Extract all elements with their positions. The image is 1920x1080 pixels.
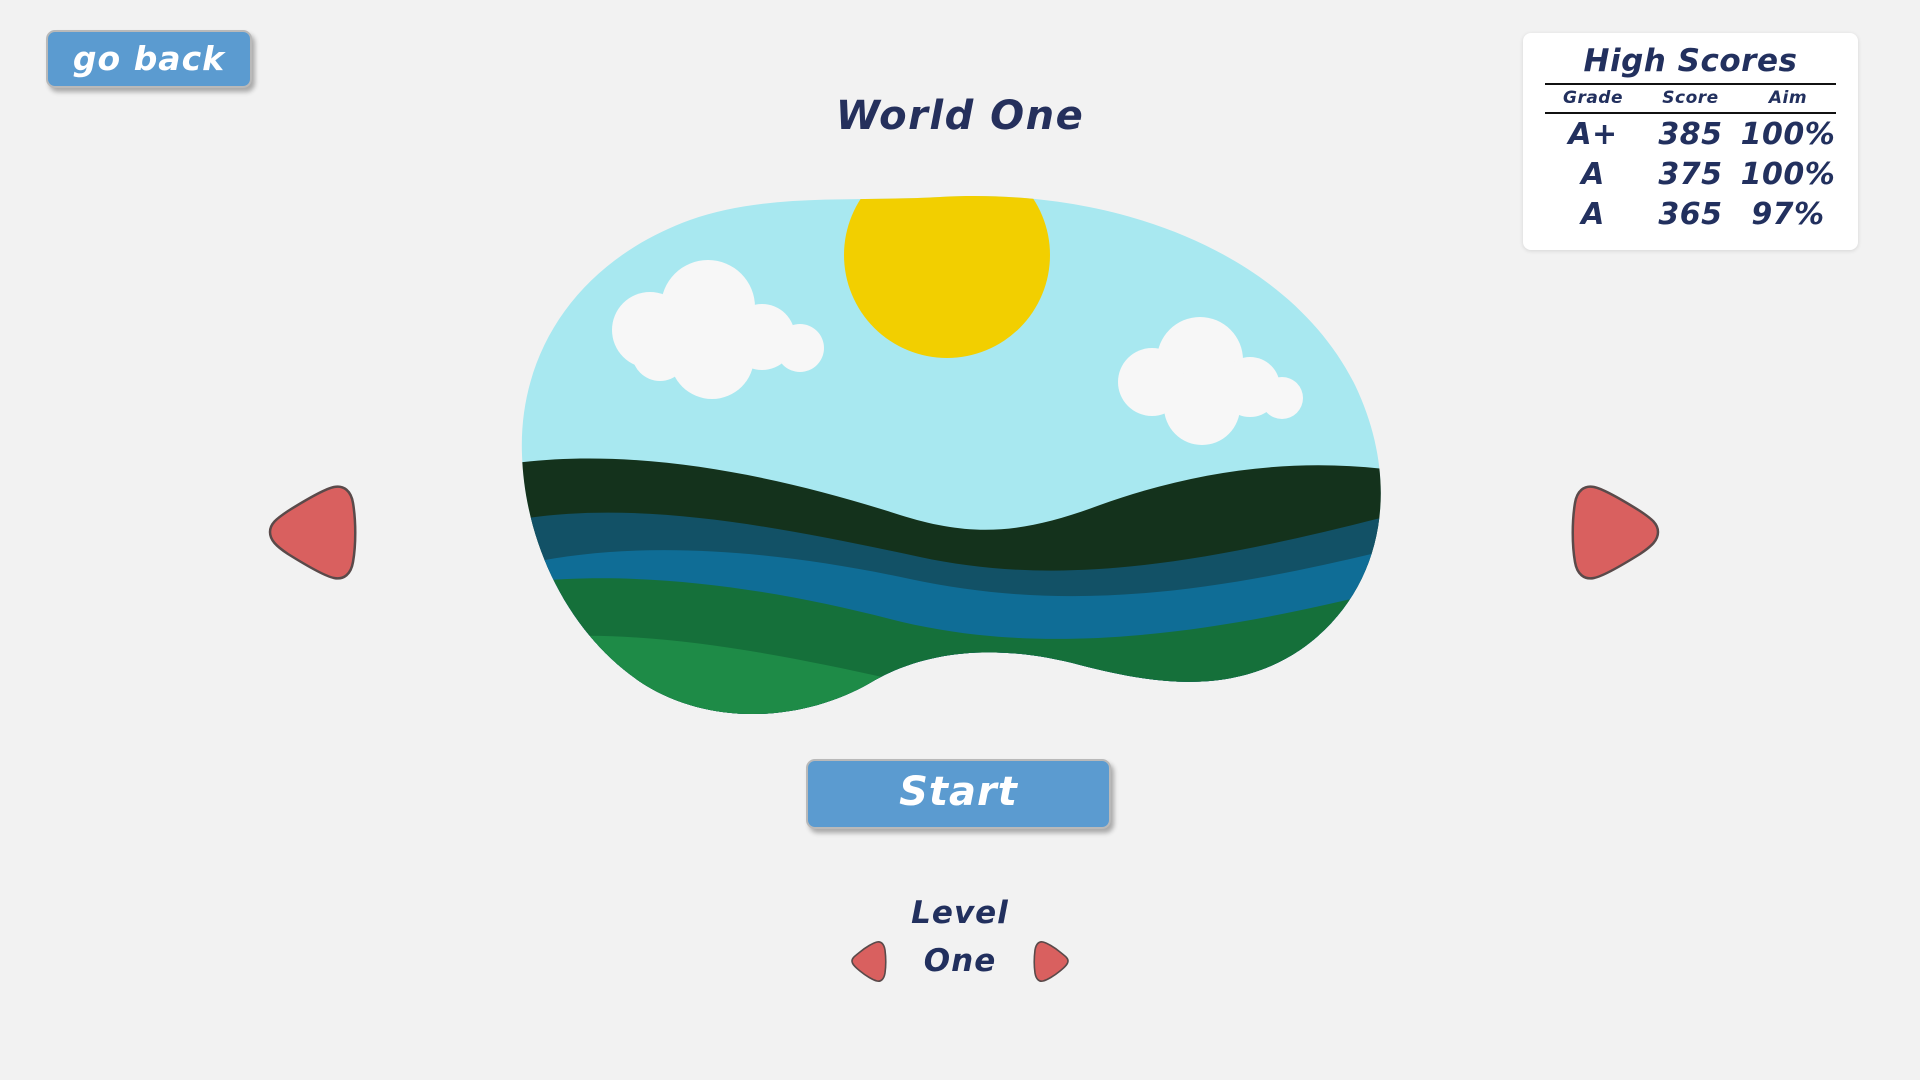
cell-aim: 97% bbox=[1740, 194, 1836, 234]
column-header-grade: Grade bbox=[1545, 84, 1641, 113]
next-world-arrow-button[interactable] bbox=[1555, 475, 1670, 590]
next-level-arrow-button[interactable] bbox=[1029, 939, 1073, 983]
column-header-aim: Aim bbox=[1740, 84, 1836, 113]
triangle-right-icon bbox=[1555, 475, 1670, 590]
column-header-score: Score bbox=[1641, 84, 1740, 113]
high-scores-title: High Scores bbox=[1545, 43, 1836, 83]
go-back-label: go back bbox=[73, 42, 225, 75]
cell-aim: 100% bbox=[1740, 113, 1836, 154]
cell-score: 365 bbox=[1641, 194, 1740, 234]
triangle-left-icon bbox=[847, 939, 891, 983]
table-row: A 365 97% bbox=[1545, 194, 1836, 234]
cell-grade: A+ bbox=[1545, 113, 1641, 154]
level-stepper: One bbox=[0, 939, 1920, 983]
high-scores-panel: High Scores Grade Score Aim A+ 385 100% … bbox=[1523, 33, 1858, 250]
table-row: A+ 385 100% bbox=[1545, 113, 1836, 154]
level-label: Level bbox=[0, 895, 1920, 931]
table-header-row: Grade Score Aim bbox=[1545, 84, 1836, 113]
cell-score: 375 bbox=[1641, 154, 1740, 194]
prev-world-arrow-button[interactable] bbox=[258, 475, 373, 590]
level-selector: Level One bbox=[0, 895, 1920, 983]
cell-grade: A bbox=[1545, 154, 1641, 194]
high-scores-table: Grade Score Aim A+ 385 100% A 375 100% A… bbox=[1545, 83, 1836, 234]
start-button[interactable]: Start bbox=[806, 759, 1111, 829]
world-illustration bbox=[500, 195, 1390, 725]
table-row: A 375 100% bbox=[1545, 154, 1836, 194]
cell-aim: 100% bbox=[1740, 154, 1836, 194]
cell-score: 385 bbox=[1641, 113, 1740, 154]
go-back-button[interactable]: go back bbox=[46, 30, 252, 88]
level-value: One bbox=[924, 943, 996, 979]
cell-grade: A bbox=[1545, 194, 1641, 234]
prev-level-arrow-button[interactable] bbox=[847, 939, 891, 983]
start-label: Start bbox=[899, 769, 1018, 815]
triangle-left-icon bbox=[258, 475, 373, 590]
triangle-right-icon bbox=[1029, 939, 1073, 983]
